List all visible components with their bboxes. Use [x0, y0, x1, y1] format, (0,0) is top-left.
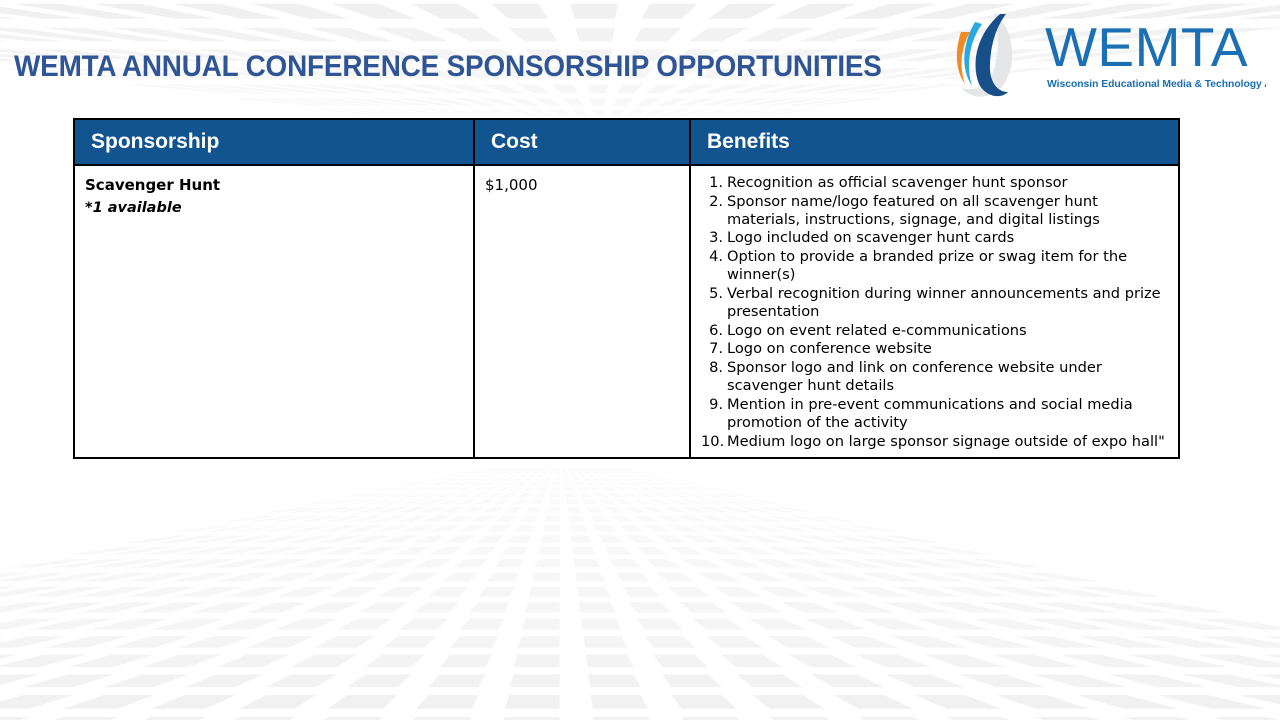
benefit-item: Mention in pre-event communications and … [701, 396, 1172, 432]
logo-wordmark: WEMTA [1045, 16, 1248, 78]
table-row: Scavenger Hunt *1 available $1,000 Recog… [74, 165, 1179, 458]
page-title: WEMTA ANNUAL CONFERENCE SPONSORSHIP OPPO… [14, 50, 870, 84]
benefit-item: Option to provide a branded prize or swa… [701, 248, 1172, 284]
benefit-item: Logo included on scavenger hunt cards [701, 229, 1172, 247]
benefit-item: Sponsor logo and link on conference webs… [701, 359, 1172, 395]
benefit-item: Medium logo on large sponsor signage out… [701, 433, 1172, 451]
table-header-row: Sponsorship Cost Benefits [74, 119, 1179, 165]
benefit-item: Logo on conference website [701, 340, 1172, 358]
cell-cost: $1,000 [474, 165, 690, 458]
sponsorship-table: Sponsorship Cost Benefits Scavenger Hunt… [73, 118, 1180, 459]
sponsorship-name: Scavenger Hunt [85, 174, 467, 197]
logo-tagline: Wisconsin Educational Media & Technology… [1047, 79, 1266, 90]
benefit-item: Verbal recognition during winner announc… [701, 285, 1172, 321]
cell-benefits: Recognition as official scavenger hunt s… [690, 165, 1179, 458]
sponsorship-cost: $1,000 [485, 174, 683, 197]
benefit-item: Logo on event related e-communications [701, 322, 1172, 340]
cell-sponsorship: Scavenger Hunt *1 available [74, 165, 474, 458]
column-header-benefits: Benefits [690, 119, 1179, 165]
benefit-item: Sponsor name/logo featured on all scaven… [701, 193, 1172, 229]
column-header-cost: Cost [474, 119, 690, 165]
benefits-list: Recognition as official scavenger hunt s… [701, 174, 1172, 451]
wemta-logo: WEMTA Wisconsin Educational Media & Tech… [948, 4, 1266, 104]
column-header-sponsorship: Sponsorship [74, 119, 474, 165]
benefit-item: Recognition as official scavenger hunt s… [701, 174, 1172, 192]
sponsorship-availability: *1 available [85, 197, 467, 219]
wemta-flame-mark [957, 12, 1012, 97]
